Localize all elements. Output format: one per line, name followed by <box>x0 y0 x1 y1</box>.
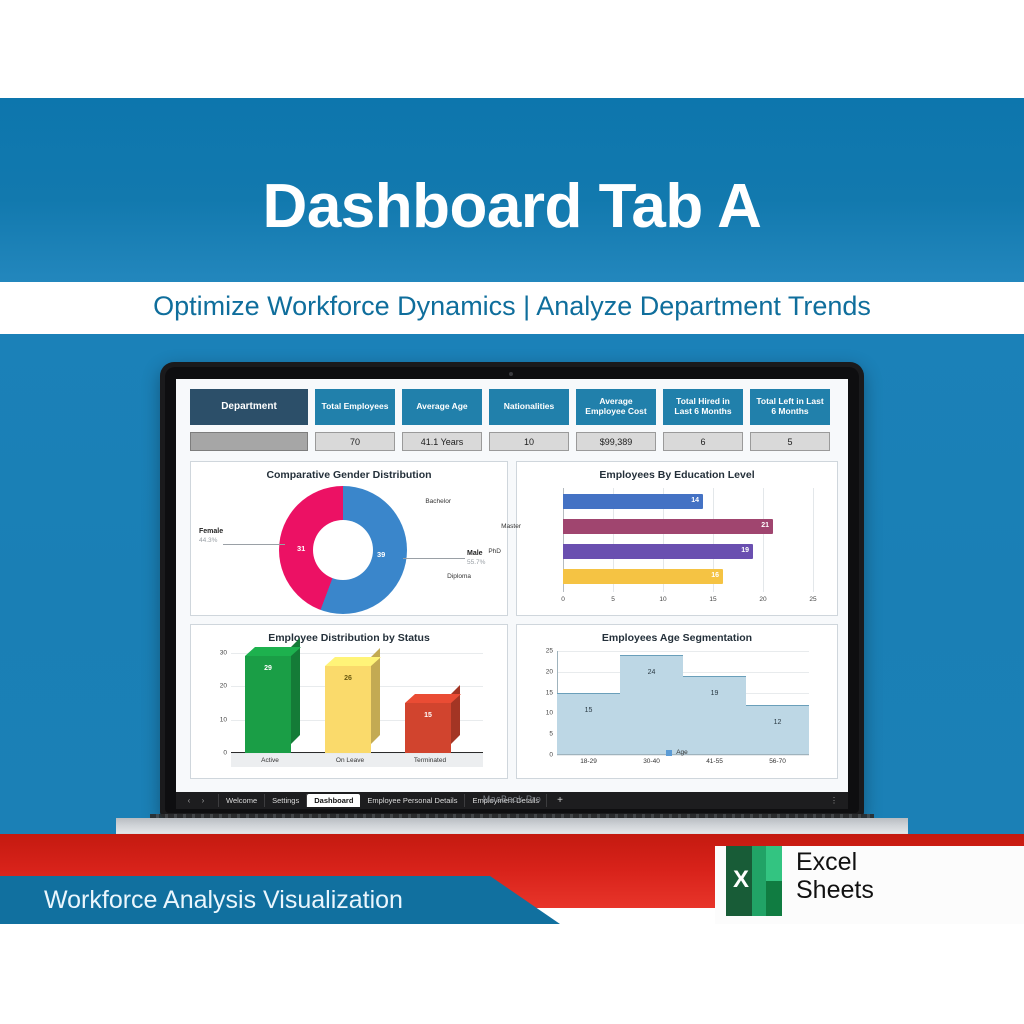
kpi-label-average-employee-cost: Average Employee Cost <box>576 389 656 425</box>
bar-category-label: Bachelor <box>403 494 451 509</box>
bar: 21 <box>563 519 773 534</box>
logo-shape-light2 <box>766 881 782 916</box>
kpi-total-hired: Total Hired in Last 6 Months 6 <box>663 389 743 451</box>
x-tick-label: 5 <box>611 596 615 603</box>
kpi-nationalities: Nationalities 10 <box>489 389 569 451</box>
bar-row: PhD19 <box>563 544 753 559</box>
y-tick-label: 0 <box>223 750 227 757</box>
gridline <box>557 651 809 652</box>
chart-title: Employees Age Segmentation <box>517 632 837 644</box>
column-category-label: Terminated <box>400 757 460 764</box>
chart-education-level: Employees By Education Level Bachelor14M… <box>516 461 838 616</box>
kpi-value-total-hired: 6 <box>663 432 743 451</box>
bar-category-label: Master <box>473 519 521 534</box>
gridline <box>557 672 809 673</box>
age-plot: 0510152025 15241912 18-2930-4041-5556-70 <box>557 651 809 755</box>
kpi-label-nationalities: Nationalities <box>489 389 569 425</box>
area-category-label: 41-55 <box>706 758 723 765</box>
y-tick-label: 5 <box>549 731 553 738</box>
charts-grid: Comparative Gender Distribution 31 39 Fe… <box>190 461 838 779</box>
kpi-total-employees: Total Employees 70 <box>315 389 395 451</box>
bar: 16 <box>563 569 723 584</box>
area-step <box>557 693 620 755</box>
bar-row: Master21 <box>563 519 773 534</box>
bar-value: 19 <box>741 547 749 554</box>
chart-title: Employee Distribution by Status <box>191 632 507 644</box>
x-tick-label: 20 <box>759 596 766 603</box>
donut-label-male-percent: 55.7% <box>467 559 485 566</box>
logo-shape-light <box>766 846 782 881</box>
area-value: 24 <box>648 669 656 676</box>
x-tick-label: 15 <box>709 596 716 603</box>
kpi-label-line2: Last 6 Months <box>674 406 731 416</box>
leader-line-female <box>223 544 285 545</box>
kpi-average-age: Average Age 41.1 Years <box>402 389 482 451</box>
column-category-label: On Leave <box>320 757 380 764</box>
donut-value-female: 31 <box>297 544 305 553</box>
chart-title: Comparative Gender Distribution <box>191 469 507 481</box>
laptop-mockup: Department Total Employees 70 Average Ag… <box>160 362 864 824</box>
kpi-department[interactable]: Department <box>190 389 308 451</box>
bar-value: 21 <box>761 522 769 529</box>
bar-row: Bachelor14 <box>563 494 703 509</box>
gridline <box>813 488 814 592</box>
kpi-row: Department Total Employees 70 Average Ag… <box>190 389 838 451</box>
brand-name: Excel Sheets <box>796 848 874 904</box>
bottom-white-margin <box>0 924 1024 1024</box>
area-value: 12 <box>774 719 782 726</box>
column-value: 29 <box>245 665 291 672</box>
excel-logo-icon: X <box>726 846 782 916</box>
gridline <box>763 488 764 592</box>
y-tick-label: 20 <box>220 683 227 690</box>
legend-swatch-age <box>666 750 672 756</box>
x-tick-label: 0 <box>561 596 565 603</box>
column-value: 26 <box>325 675 371 682</box>
ribbon-caption: Workforce Analysis Visualization <box>44 886 403 915</box>
poster-page: Dashboard Tab A Optimize Workforce Dynam… <box>0 0 1024 1024</box>
gridline <box>231 753 483 754</box>
top-white-margin <box>0 0 1024 98</box>
kpi-label-line1: Total Hired in <box>676 396 730 406</box>
kpi-average-employee-cost: Average Employee Cost $99,389 <box>576 389 656 451</box>
legend-label-age: Age <box>676 749 688 756</box>
page-title: Dashboard Tab A <box>0 176 1024 238</box>
chart-gender-distribution: Comparative Gender Distribution 31 39 Fe… <box>190 461 508 616</box>
kpi-label-line1: Average <box>599 396 632 406</box>
y-tick-label: 15 <box>546 689 553 696</box>
area-category-label: 56-70 <box>769 758 786 765</box>
kpi-value-average-age: 41.1 Years <box>402 432 482 451</box>
brand-line-1: Excel <box>796 848 874 876</box>
kpi-label-total-hired: Total Hired in Last 6 Months <box>663 389 743 425</box>
kpi-label-average-age: Average Age <box>402 389 482 425</box>
bar-value: 14 <box>691 497 699 504</box>
area-value: 19 <box>711 690 719 697</box>
chart-title: Employees By Education Level <box>517 469 837 481</box>
bar-category-label: PhD <box>453 544 501 559</box>
kpi-label-line1: Total Left in Last <box>756 396 823 406</box>
y-tick-label: 10 <box>546 710 553 717</box>
kpi-label-total-employees: Total Employees <box>315 389 395 425</box>
brand-line-2: Sheets <box>796 876 874 904</box>
kpi-value-average-employee-cost: $99,389 <box>576 432 656 451</box>
bar: 19 <box>563 544 753 559</box>
bar-category-label: Diploma <box>423 569 471 584</box>
y-tick-label: 30 <box>220 650 227 657</box>
area-step <box>746 705 809 755</box>
donut-value-male: 39 <box>377 550 385 559</box>
area-category-label: 30-40 <box>643 758 660 765</box>
bar: 14 <box>563 494 703 509</box>
chart-age-segmentation: Employees Age Segmentation 0510152025 15… <box>516 624 838 779</box>
donut-chart: 31 39 <box>279 486 407 614</box>
bar-row: Diploma16 <box>563 569 723 584</box>
kpi-label-department: Department <box>190 389 308 425</box>
column-category-label: Active <box>240 757 300 764</box>
education-plot: Bachelor14Master21PhD19Diploma16 0510152… <box>563 488 813 592</box>
device-label: MacBook Pro <box>160 794 864 804</box>
y-tick-label: 10 <box>220 716 227 723</box>
kpi-value-nationalities: 10 <box>489 432 569 451</box>
kpi-value-total-employees: 70 <box>315 432 395 451</box>
excel-dashboard: Department Total Employees 70 Average Ag… <box>176 379 848 809</box>
webcam-icon <box>509 372 513 376</box>
x-tick-label: 10 <box>659 596 666 603</box>
y-tick-label: 25 <box>546 648 553 655</box>
bar-value: 16 <box>711 572 719 579</box>
chart-status-distribution: Employee Distribution by Status 0102030 … <box>190 624 508 779</box>
column-face <box>405 703 451 753</box>
column-value: 15 <box>405 712 451 719</box>
page-subtitle: Optimize Workforce Dynamics | Analyze De… <box>0 292 1024 322</box>
kpi-value-total-left: 5 <box>750 432 830 451</box>
area-step <box>683 676 746 755</box>
logo-letter-x: X <box>724 866 758 894</box>
status-plot: 0102030 292615 ActiveOn LeaveTerminated <box>231 653 483 753</box>
column <box>405 703 451 753</box>
y-tick-label: 20 <box>546 668 553 675</box>
kpi-label-total-left: Total Left in Last 6 Months <box>750 389 830 425</box>
area-value: 15 <box>585 707 593 714</box>
donut-label-female-percent: 44.3% <box>199 537 217 544</box>
donut-label-female-name: Female <box>199 528 223 537</box>
chart-legend: Age <box>517 749 837 756</box>
kpi-label-line2: 6 Months <box>771 406 808 416</box>
donut-label-female: Female 44.3% <box>199 528 223 545</box>
laptop-screen: Department Total Employees 70 Average Ag… <box>176 379 848 809</box>
donut-hole <box>313 520 373 580</box>
kpi-total-left: Total Left in Last 6 Months 5 <box>750 389 830 451</box>
area-category-label: 18-29 <box>580 758 597 765</box>
x-tick-label: 25 <box>809 596 816 603</box>
department-filter-input[interactable] <box>190 432 308 451</box>
laptop-lid: Department Total Employees 70 Average Ag… <box>160 362 864 818</box>
kpi-label-line2: Employee Cost <box>585 406 646 416</box>
